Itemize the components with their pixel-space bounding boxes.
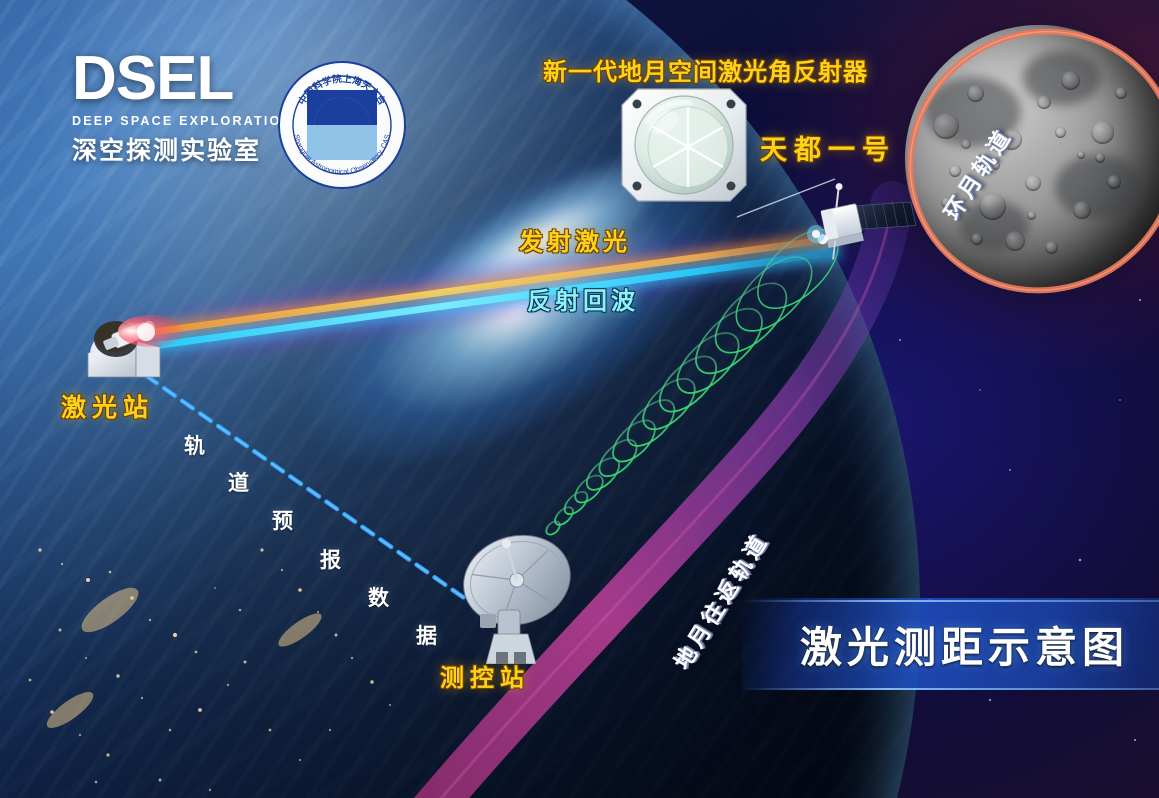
reflector-leader-line: [735, 175, 840, 223]
control-station-icon: [452, 522, 584, 664]
orbit-char: 轨: [184, 430, 205, 460]
echo-return-label: 反射回波: [527, 281, 639, 316]
satellite-name-label: 天都一号: [760, 128, 896, 167]
orbit-char: 道: [228, 467, 249, 497]
emit-laser-label: 发射激光: [519, 222, 631, 257]
corner-cube-retroreflector-icon: [616, 83, 752, 207]
reflector-title-label: 新一代地月空间激光角反射器: [543, 52, 868, 87]
control-station-label: 测控站: [440, 658, 530, 693]
title-banner-bottom-line: [742, 688, 1159, 690]
laser-station-label: 激光站: [61, 388, 154, 424]
orbit-char: 据: [416, 620, 437, 650]
orbit-char: 报: [320, 544, 341, 574]
title-banner-top-line: [742, 600, 1159, 602]
laser-station-icon: [74, 303, 196, 387]
telemetry-helix-beam: [520, 210, 840, 550]
lunar-orbit-ellipse: [900, 18, 1159, 304]
orbit-char: 数: [368, 582, 389, 612]
laser-ranging-diagram: DSEL DEEP SPACE EXPLORATION LAB 深空探测实验室 …: [0, 0, 1159, 798]
page-title: 激光测距示意图: [800, 614, 1129, 675]
orbit-char: 预: [272, 505, 293, 535]
shao-seal: 中国科学院上海天文台 Shanghai Astronomical Observa…: [277, 60, 407, 190]
